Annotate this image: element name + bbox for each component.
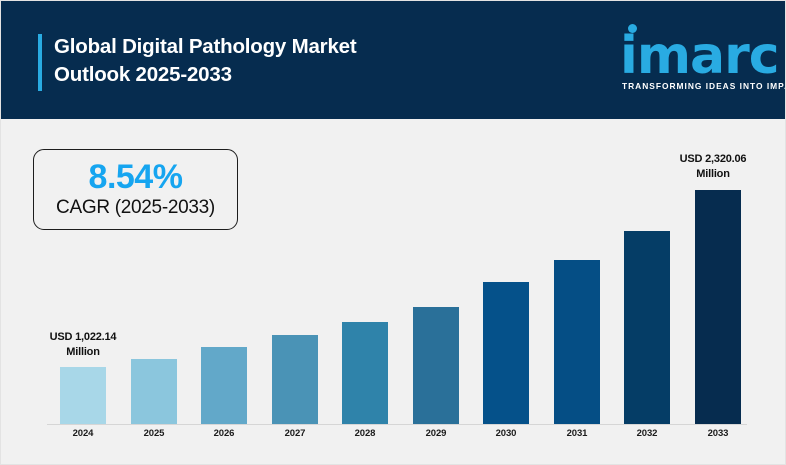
- x-tick-2029: 2029: [405, 428, 467, 439]
- bar-2033: [695, 190, 741, 424]
- x-tick-2024: 2024: [52, 428, 114, 439]
- x-tick-2028: 2028: [334, 428, 396, 439]
- value-callout-first: USD 1,022.14 Million: [23, 330, 143, 359]
- bar-2026: [201, 347, 247, 424]
- x-tick-2032: 2032: [616, 428, 678, 439]
- x-tick-2026: 2026: [193, 428, 255, 439]
- value-callout-last-line-2: Million: [651, 167, 775, 182]
- infographic-page: Global Digital Pathology Market Outlook …: [0, 0, 786, 465]
- bar-2027: [272, 335, 318, 424]
- x-tick-2025: 2025: [123, 428, 185, 439]
- bar-2031: [554, 260, 600, 424]
- value-callout-last-line-1: USD 2,320.06: [651, 152, 775, 167]
- value-callout-first-line-2: Million: [23, 345, 143, 360]
- x-tick-2027: 2027: [264, 428, 326, 439]
- value-callout-last: USD 2,320.06 Million: [651, 152, 775, 181]
- bar-2030: [483, 282, 529, 424]
- x-tick-2033: 2033: [687, 428, 749, 439]
- bar-2028: [342, 322, 388, 424]
- x-tick-2031: 2031: [546, 428, 608, 439]
- bar-2032: [624, 231, 670, 424]
- x-tick-2030: 2030: [475, 428, 537, 439]
- bar-2024: [60, 367, 106, 424]
- x-axis-line: [47, 424, 747, 425]
- bar-2029: [413, 307, 459, 424]
- bar-chart: 2024202520262027202820292030203120322033…: [1, 1, 786, 465]
- value-callout-first-line-1: USD 1,022.14: [23, 330, 143, 345]
- bar-2025: [131, 359, 177, 424]
